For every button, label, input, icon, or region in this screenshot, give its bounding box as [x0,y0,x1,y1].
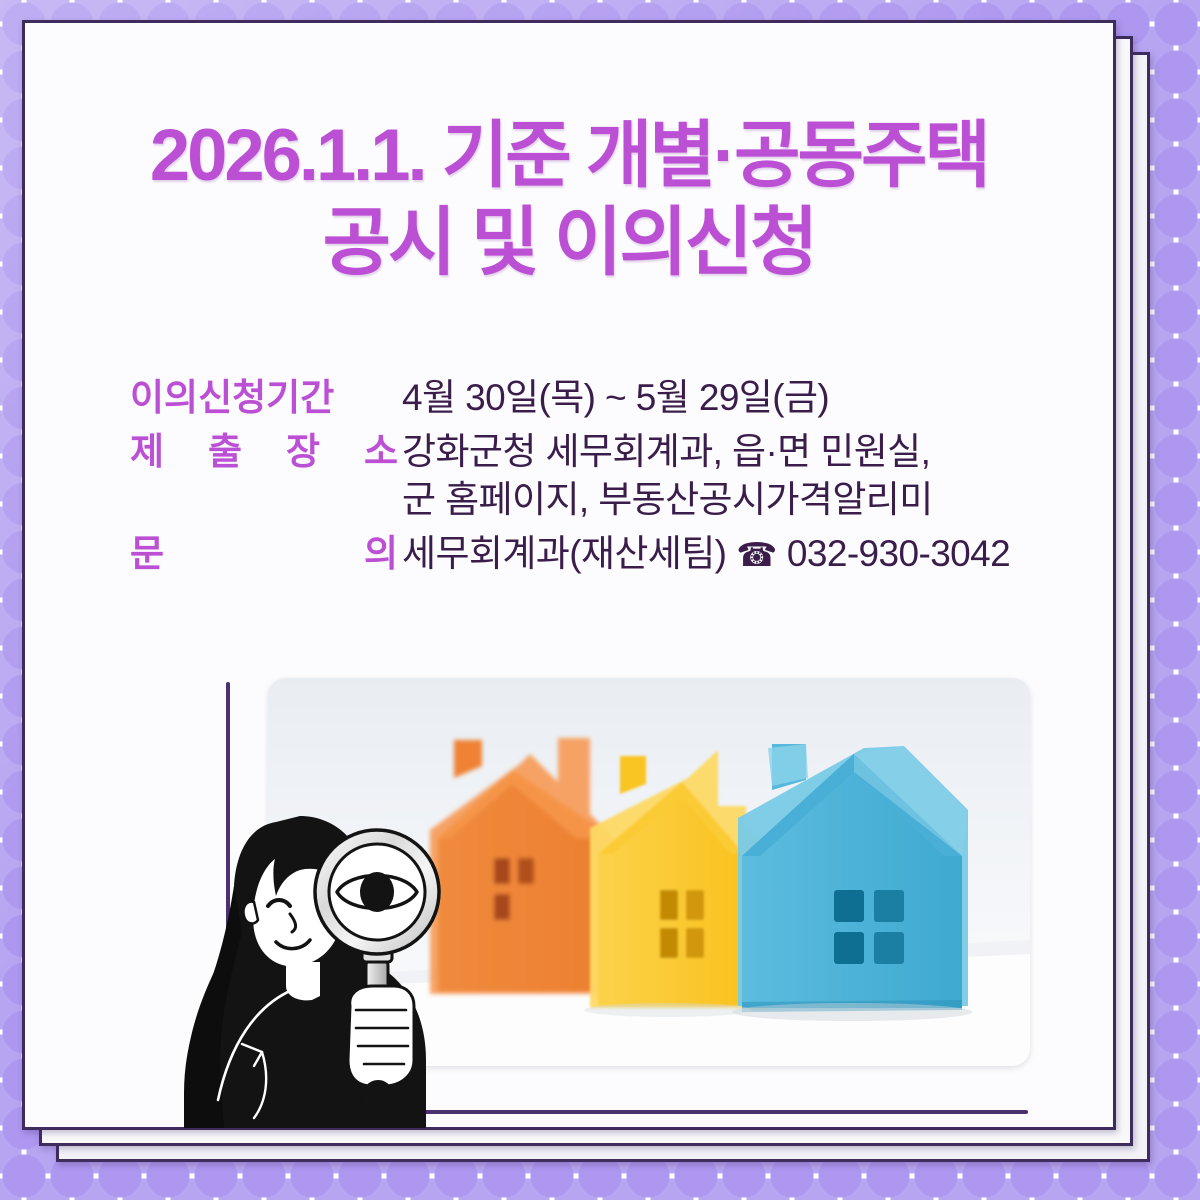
label-char-so: 소 [364,428,398,476]
woman-with-magnifier-illustration [180,810,448,1128]
poster-content: 2026.1.1. 기준 개별·공동주택 공시 및 이의신청 이의신청기간 4월… [22,20,1116,1130]
info-row-submission-place: 제 출 장 소 강화군청 세무회계과, 읍·면 민원실, 군 홈페이지, 부동산… [130,428,1090,524]
label-char-chul: 출 [208,428,242,476]
ear [243,902,258,924]
title-line-1: 2026.1.1. 기준 개별·공동주택 [27,114,1110,199]
info-table: 이의신청기간 4월 30일(목) ~ 5월 29일(금) 제 출 장 소 강화군… [130,374,1090,584]
inquiry-department: 세무회계과(재산세팀) [402,533,726,574]
application-period-text: 4월 30일(목) ~ 5월 29일(금) [402,374,1090,422]
submission-place-line-2: 군 홈페이지, 부동산공시가격알리미 [402,476,1090,524]
label-char-je: 제 [130,428,164,476]
info-label-application-period: 이의신청기간 [130,374,402,422]
info-value-inquiry: 세무회계과(재산세팀) ☎ 032-930-3042 [402,530,1090,578]
info-value-submission-place: 강화군청 세무회계과, 읍·면 민원실, 군 홈페이지, 부동산공시가격알리미 [402,428,1090,524]
info-label-inquiry: 문 의 [130,530,402,578]
page-title: 2026.1.1. 기준 개별·공동주택 공시 및 이의신청 [22,114,1116,286]
info-value-application-period: 4월 30일(목) ~ 5월 29일(금) [402,374,1090,422]
inquiry-text: 세무회계과(재산세팀) ☎ 032-930-3042 [402,530,1090,578]
inquiry-phone-number[interactable]: 032-930-3042 [787,533,1010,574]
title-line-2: 공시 및 이의신청 [27,199,1110,286]
telephone-icon: ☎ [736,536,777,573]
neck [286,962,320,1000]
magnified-pupil [360,872,394,912]
label-char-jang: 장 [286,428,320,476]
info-row-inquiry: 문 의 세무회계과(재산세팀) ☎ 032-930-3042 [130,530,1090,578]
label-char-mun: 문 [130,530,164,578]
blue-paper-house [738,744,968,1012]
info-row-application-period: 이의신청기간 4월 30일(목) ~ 5월 29일(금) [130,374,1090,422]
info-label-submission-place: 제 출 장 소 [130,428,402,476]
woman-silhouette [180,810,448,1128]
label-char-ui: 의 [364,530,398,578]
submission-place-line-1: 강화군청 세무회계과, 읍·면 민원실, [402,428,1090,476]
